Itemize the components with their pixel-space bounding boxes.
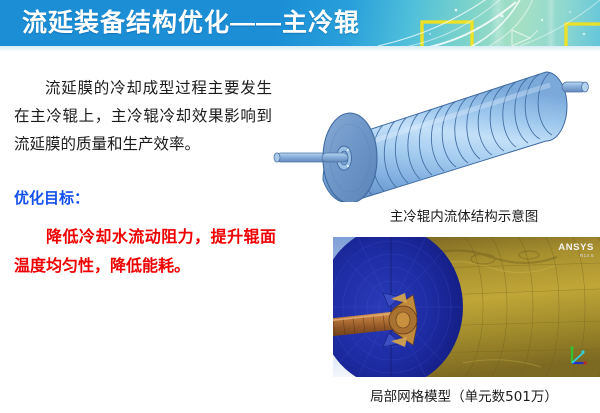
roller-3d-figure xyxy=(262,52,600,202)
ansys-mesh-figure: ANSYS R14.5 xyxy=(333,237,600,377)
axis-triad-icon xyxy=(566,345,592,369)
roller-left-endcap xyxy=(322,113,377,202)
ansys-mesh-render xyxy=(333,237,600,377)
roller-right-stub-shaft xyxy=(562,82,588,92)
mesh-figure-caption: 局部网格模型（单元数501万） xyxy=(330,385,598,405)
roller-figure-caption: 主冷辊内流体结构示意图 xyxy=(330,205,598,225)
header-decoration-graphic xyxy=(370,0,600,46)
optimization-goal-text: 降低冷却水流动阻力，提升辊面温度均匀性，降低能耗。 xyxy=(14,222,276,280)
page-title: 流延装备结构优化——主冷辊 xyxy=(22,7,360,39)
optimization-goal-label: 优化目标： xyxy=(14,188,89,208)
intro-paragraph: 流延膜的冷却成型过程主要发生在主冷辊上，主冷辊冷却效果影响到流延膜的质量和生产效… xyxy=(14,74,272,158)
